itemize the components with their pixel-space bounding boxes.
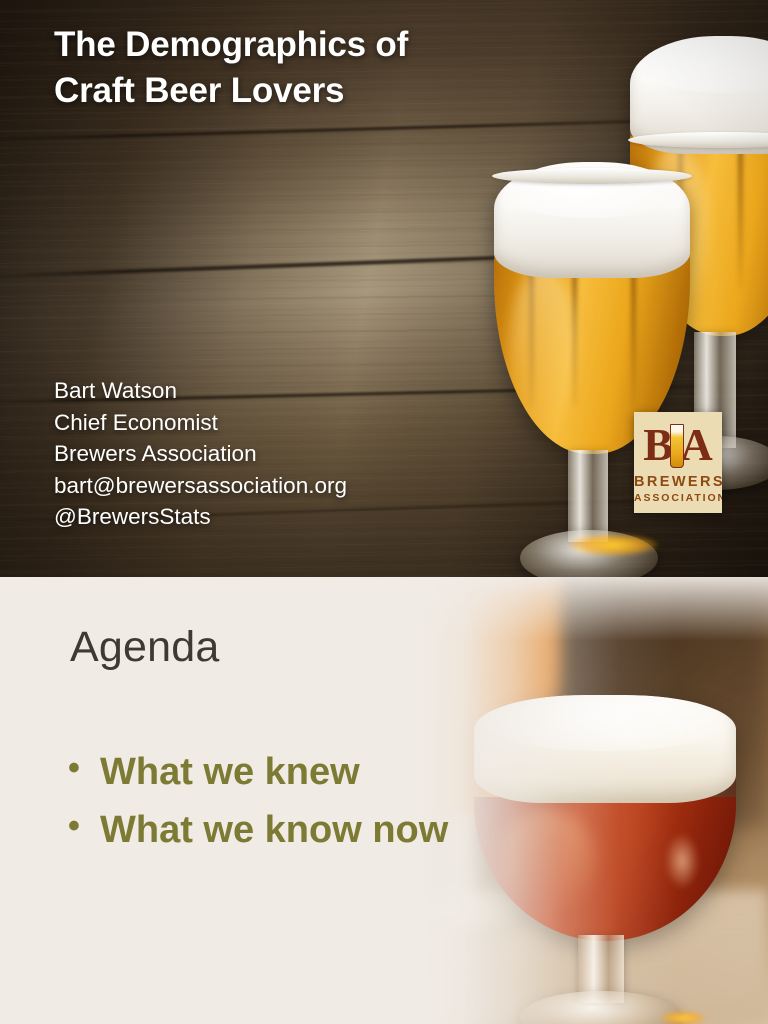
logo-letter-a: A (680, 423, 713, 468)
glass-bowl (494, 162, 690, 454)
page-title: The Demographics of Craft Beer Lovers (54, 22, 524, 113)
presenter-twitter-handle: @BrewersStats (54, 501, 474, 533)
presenter-email: bart@brewersassociation.org (54, 470, 474, 502)
light-reflection (568, 534, 658, 556)
list-item: What we know now (64, 808, 464, 854)
presenter-role: Chief Economist (54, 407, 474, 439)
presenter-organization: Brewers Association (54, 438, 474, 470)
beer-glass-icon (670, 424, 684, 468)
slide-deck: The Demographics of Craft Beer Lovers Ba… (0, 0, 768, 1024)
title-line-2: Craft Beer Lovers (54, 68, 524, 114)
logo-letter-b: B (643, 423, 673, 468)
slide-title: The Demographics of Craft Beer Lovers Ba… (0, 0, 768, 577)
logo-name-top: BREWERS (634, 474, 722, 490)
glass-rim (492, 168, 692, 184)
title-line-1: The Demographics of (54, 22, 524, 68)
agenda-heading: Agenda (70, 623, 219, 672)
glass-stem (568, 450, 608, 542)
logo-name-bottom: ASSOCIATION (634, 492, 722, 504)
beer-glass-front (494, 162, 690, 577)
slide-agenda: Agenda What we knew What we know now (0, 577, 768, 1024)
brewers-association-logo: B A BREWERS ASSOCIATION (634, 412, 722, 513)
presenter-byline: Bart Watson Chief Economist Brewers Asso… (54, 375, 474, 533)
photo-fade-top (356, 577, 768, 641)
list-item: What we knew (64, 750, 464, 796)
ba-monogram: B A (634, 418, 722, 472)
presenter-name: Bart Watson (54, 375, 474, 407)
agenda-list: What we knew What we know now (64, 750, 464, 865)
